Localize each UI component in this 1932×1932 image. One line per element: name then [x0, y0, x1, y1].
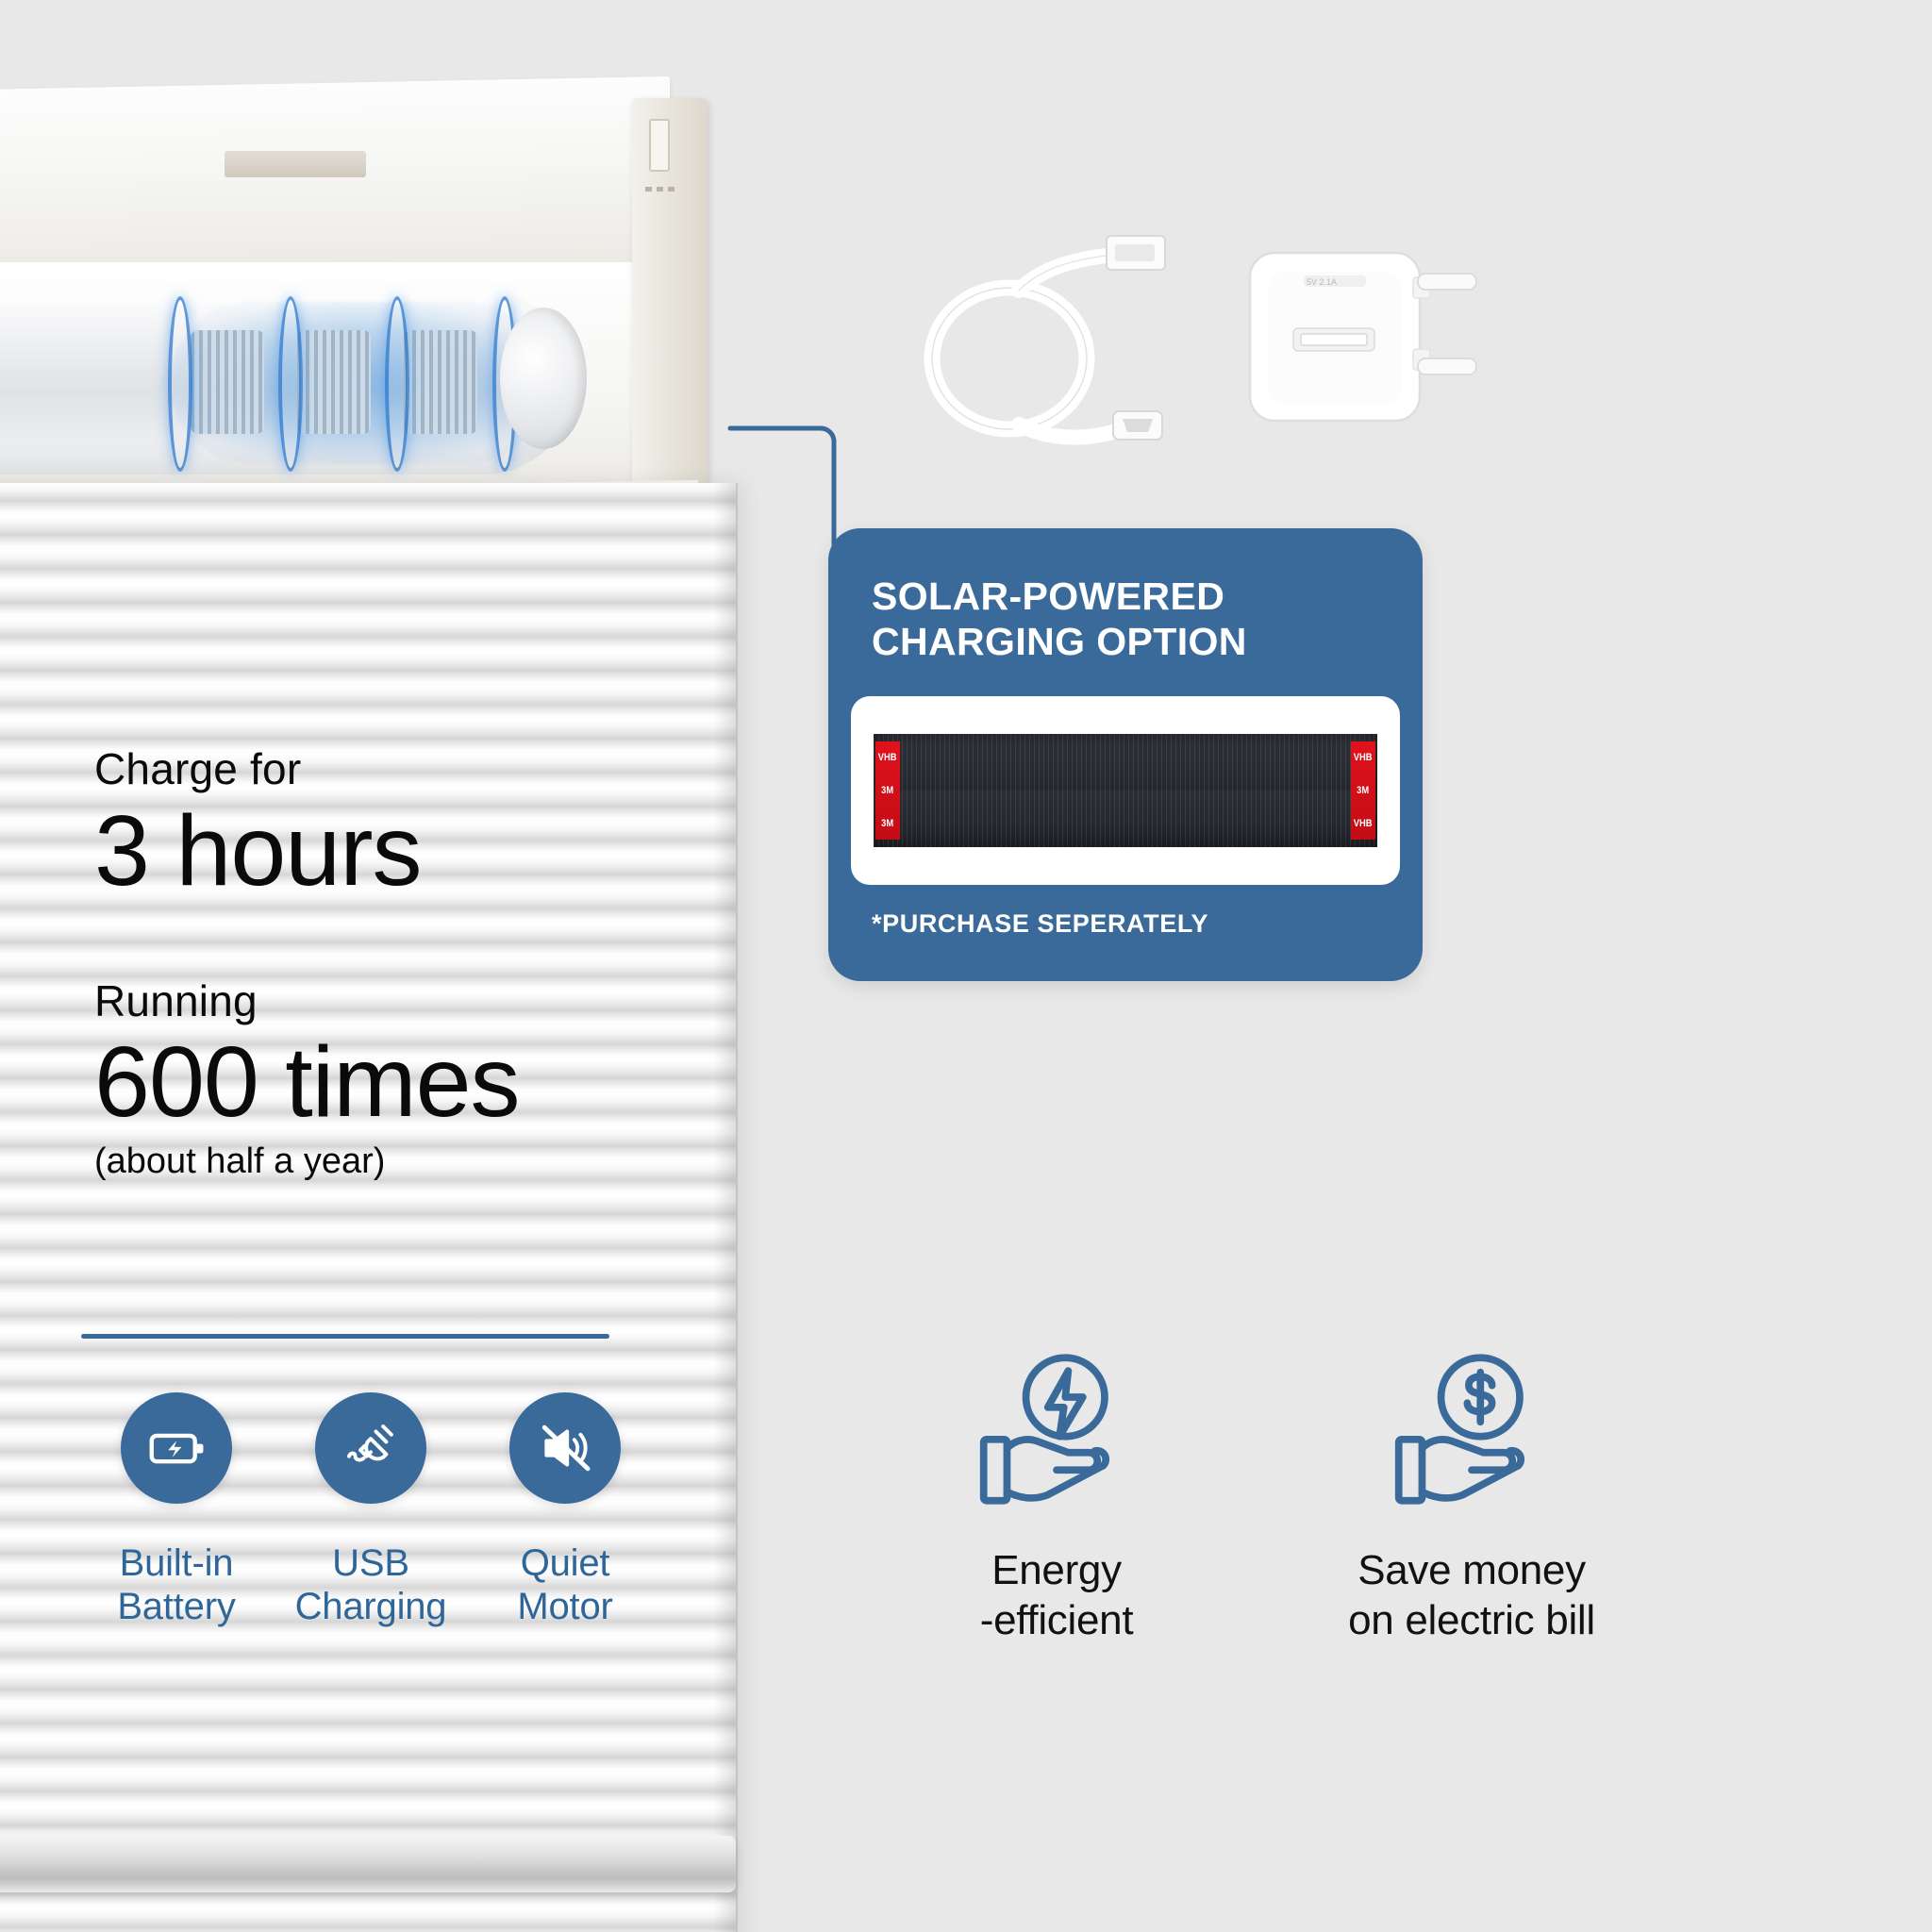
solar-panel-frame: VHB 3M 3M VHB 3M VHB: [851, 696, 1400, 885]
hand-lightning-icon: [967, 1349, 1146, 1514]
motor-gear: [404, 330, 477, 434]
solar-card-title-line2: CHARGING OPTION: [872, 620, 1247, 663]
mute-speaker-icon: [509, 1392, 621, 1504]
running-label: Running: [94, 977, 660, 1025]
battery-charging-icon: [121, 1392, 232, 1504]
feature-label-line2: Battery: [117, 1586, 235, 1627]
blind-fabric-panel: [0, 483, 736, 1932]
headrail-endcap: [632, 98, 708, 513]
charge-value: 3 hours: [94, 799, 660, 904]
accessories-photo: 5V 2.1A: [877, 217, 1500, 462]
feature-label-line2: Motor: [517, 1586, 612, 1627]
wall-charger: 5V 2.1A: [1250, 253, 1476, 421]
motor-ring: [168, 296, 192, 472]
solar-card-title: SOLAR-POWERED CHARGING OPTION: [872, 574, 1381, 665]
benefit-label-line1: Save money: [1357, 1547, 1586, 1593]
tape-label: VHB: [1354, 752, 1373, 763]
running-value: 600 times: [94, 1030, 660, 1135]
endcap-vent-dots: [645, 187, 677, 192]
headrail-housing: [0, 76, 670, 278]
feature-quiet-motor[interactable]: Quiet Motor: [468, 1392, 662, 1629]
running-note: (about half a year): [94, 1141, 660, 1182]
benefit-save-money[interactable]: Save money on electric bill: [1264, 1349, 1679, 1646]
feature-icon-row: Built-in Battery USB Charging: [79, 1392, 664, 1629]
hand-dollar-icon: [1382, 1349, 1561, 1514]
copy-spacer: [94, 904, 660, 977]
solar-panel-photo: VHB 3M 3M VHB 3M VHB: [874, 734, 1377, 847]
benefit-label-line2: on electric bill: [1348, 1597, 1595, 1643]
mounting-bracket: [225, 151, 366, 177]
motor-gear: [297, 330, 371, 434]
feature-label-line1: Built-in: [120, 1542, 234, 1584]
benefit-label: Energy -efficient: [980, 1546, 1134, 1646]
benefit-label: Save money on electric bill: [1348, 1546, 1595, 1646]
tape-label: 3M: [882, 785, 894, 796]
headrail-photo: [0, 83, 736, 498]
feature-label: Quiet Motor: [517, 1541, 612, 1629]
benefit-label-line1: Energy: [991, 1547, 1122, 1593]
motor-ring: [278, 296, 303, 472]
benefit-energy-efficient[interactable]: Energy -efficient: [849, 1349, 1264, 1646]
adhesive-tape-left: VHB 3M 3M: [875, 741, 900, 840]
stats-copy-block: Charge for 3 hours Running 600 times (ab…: [94, 745, 660, 1182]
endcap-slot: [649, 119, 670, 172]
usb-cable: [932, 236, 1165, 440]
section-divider: [81, 1334, 609, 1339]
blind-bottom-rail: [0, 1836, 736, 1892]
feature-usb-charging[interactable]: USB Charging: [274, 1392, 468, 1629]
benefits-row: Energy -efficient Save money on electric…: [849, 1349, 1849, 1646]
feature-built-in-battery[interactable]: Built-in Battery: [79, 1392, 274, 1629]
charge-label: Charge for: [94, 745, 660, 793]
motor-ring: [385, 296, 409, 472]
infographic-canvas: Charge for 3 hours Running 600 times (ab…: [0, 0, 1932, 1932]
feature-label: USB Charging: [295, 1541, 447, 1629]
motor-gear: [191, 330, 264, 434]
motor-cutaway: [0, 262, 637, 517]
svg-text:5V 2.1A: 5V 2.1A: [1307, 277, 1337, 287]
tape-label: VHB: [1354, 818, 1373, 829]
solar-card-title-line1: SOLAR-POWERED: [872, 575, 1224, 618]
tube-endcap: [500, 308, 587, 449]
tape-label: VHB: [878, 752, 897, 763]
adhesive-tape-right: VHB 3M VHB: [1351, 741, 1375, 840]
purchase-separately-note: *PURCHASE SEPERATELY: [872, 909, 1208, 939]
usb-plug-icon: [315, 1392, 426, 1504]
solar-charging-card: SOLAR-POWERED CHARGING OPTION VHB 3M 3M …: [828, 528, 1423, 981]
feature-label: Built-in Battery: [117, 1541, 235, 1629]
feature-label-line1: USB: [332, 1542, 409, 1584]
tape-label: 3M: [1357, 785, 1370, 796]
benefit-label-line2: -efficient: [980, 1597, 1134, 1643]
feature-label-line1: Quiet: [521, 1542, 610, 1584]
feature-label-line2: Charging: [295, 1586, 447, 1627]
tape-label: 3M: [882, 818, 894, 829]
